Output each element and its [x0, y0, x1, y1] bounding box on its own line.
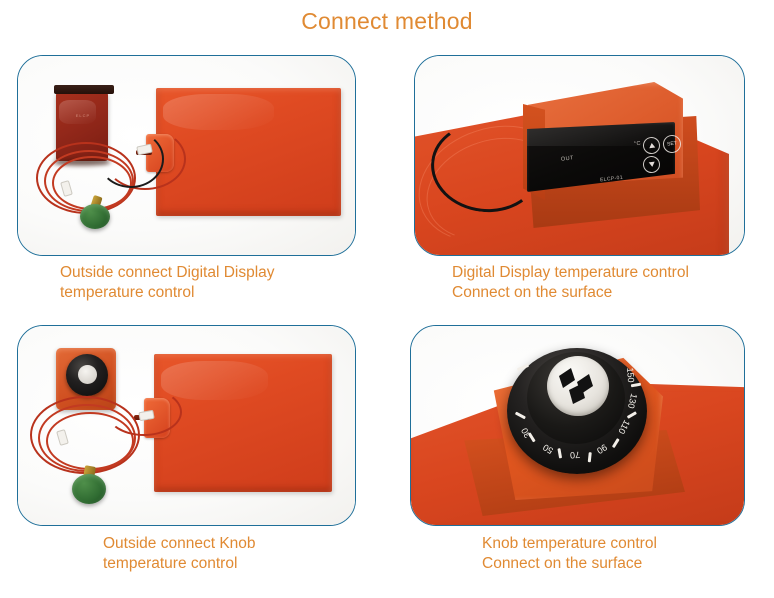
- panel-knob-on-surface: 30 50 70 90 110 130 150: [410, 325, 745, 526]
- triangle-up-icon: [648, 143, 655, 149]
- caption-knob-on-surface: Knob temperature control Connect on the …: [482, 534, 774, 574]
- dial-marking-70: 70: [570, 450, 581, 461]
- scene-outside-knob: [18, 326, 355, 525]
- silicone-heating-mat: [154, 354, 332, 492]
- panel-digital-on-surface: OUT °C ELCP-01 SET: [414, 55, 745, 256]
- controller-label: ELCP: [76, 113, 90, 118]
- scene-digital-on-surface: OUT °C ELCP-01 SET: [415, 56, 744, 255]
- panel-outside-digital: ELCP: [17, 55, 356, 256]
- panel-outside-knob: [17, 325, 356, 526]
- mat-sheen: [163, 94, 274, 130]
- caption-digital-on-surface: Digital Display temperature control Conn…: [452, 263, 762, 303]
- unit-label: °C: [634, 141, 642, 148]
- caption-outside-knob: Outside connect Knob temperature control: [103, 534, 413, 574]
- scene-outside-digital: ELCP: [18, 56, 355, 255]
- scene-knob-on-surface: 30 50 70 90 110 130 150: [411, 326, 744, 525]
- set-button-label: SET: [667, 140, 677, 147]
- green-sensor-probe: [80, 204, 110, 229]
- green-plug: [72, 474, 106, 504]
- knob-pointer-emblem: [555, 364, 603, 410]
- mat-sheen: [161, 361, 268, 400]
- page-title: Connect method: [0, 8, 774, 35]
- controller-lid: [54, 85, 114, 94]
- caption-outside-digital: Outside connect Digital Display temperat…: [60, 263, 370, 303]
- black-wire: [98, 130, 164, 188]
- triangle-down-icon: [648, 162, 655, 168]
- dial-marking-150: 150: [625, 367, 636, 383]
- knob-dial-cap: [78, 365, 97, 384]
